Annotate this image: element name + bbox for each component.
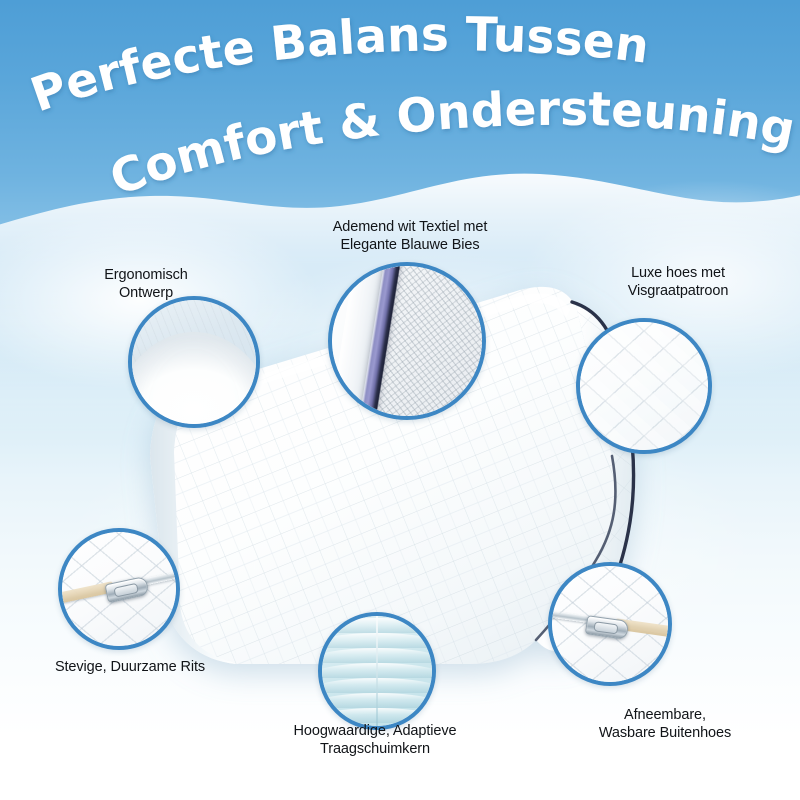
headline: Perfecte Balans Tussen Comfort & Onderst… xyxy=(0,0,800,210)
label-line-2: Elegante Blauwe Bies xyxy=(300,236,520,254)
callout-ergonomic-design[interactable] xyxy=(128,296,260,428)
pillow-contour-closeup-icon xyxy=(132,300,256,424)
label-line-1: Hoogwaardige, Adaptieve xyxy=(265,722,485,740)
callout-washable-cover[interactable] xyxy=(548,562,672,686)
label-line-2: Ontwerp xyxy=(36,284,256,302)
callout-durable-zipper[interactable] xyxy=(58,528,180,650)
label-line-2: Wasbare Buitenhoes xyxy=(545,724,785,742)
label-line-1: Ademend wit Textiel met xyxy=(300,218,520,236)
label-breathable-textile: Ademend wit Textiel met Elegante Blauwe … xyxy=(300,218,520,255)
label-durable-zipper: Stevige, Duurzame Rits xyxy=(10,658,250,676)
zipper-closeup-icon xyxy=(62,532,176,646)
label-ergonomic-design: Ergonomisch Ontwerp xyxy=(36,266,256,303)
callout-herringbone-cover[interactable] xyxy=(576,318,712,454)
label-line-2: Visgraatpatroon xyxy=(568,282,788,300)
label-memory-foam-core: Hoogwaardige, Adaptieve Traagschuimkern xyxy=(265,722,485,759)
removable-cover-zipper-icon xyxy=(552,566,668,682)
label-herringbone-cover: Luxe hoes met Visgraatpatroon xyxy=(568,264,788,301)
quilted-pattern-closeup-icon xyxy=(580,322,708,450)
label-line-1: Stevige, Duurzame Rits xyxy=(10,658,250,676)
callout-breathable-textile[interactable] xyxy=(328,262,486,420)
label-line-1: Luxe hoes met xyxy=(568,264,788,282)
foam-core-closeup-icon xyxy=(322,616,432,726)
callout-memory-foam-core[interactable] xyxy=(318,612,436,730)
product-infographic: Perfecte Balans Tussen Comfort & Onderst… xyxy=(0,0,800,800)
headline-line-2: Comfort & Ondersteuning xyxy=(103,82,800,207)
fabric-piping-closeup-icon xyxy=(332,266,482,416)
label-line-1: Ergonomisch xyxy=(36,266,256,284)
label-line-1: Afneembare, xyxy=(545,706,785,724)
label-washable-cover: Afneembare, Wasbare Buitenhoes xyxy=(545,706,785,743)
label-line-2: Traagschuimkern xyxy=(265,740,485,758)
